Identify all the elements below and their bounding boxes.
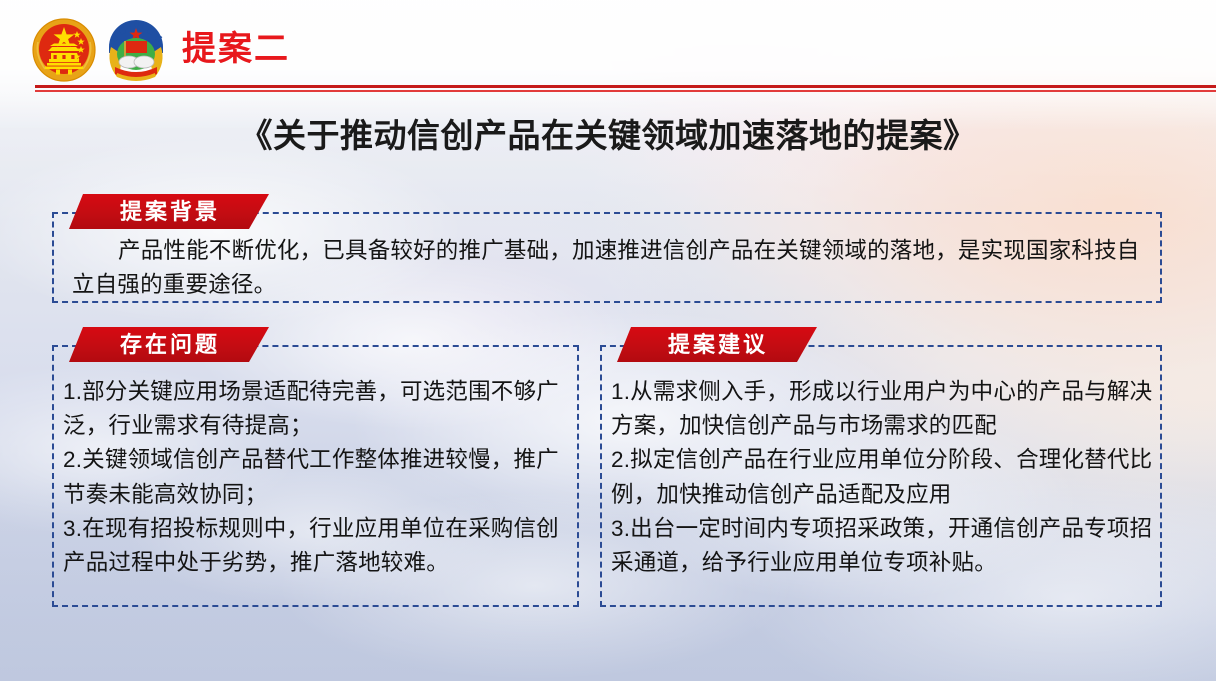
header-divider-thick <box>35 85 1216 88</box>
proposals-section-banner: 提案建议 <box>617 327 817 362</box>
slide-header: 1949 提案二 <box>0 0 1216 96</box>
problems-section-banner: 存在问题 <box>69 327 269 362</box>
presentation-slide: 1949 提案二 《关于推动信创产品在关键领域加速落地的提案》 <box>0 0 1216 681</box>
background-section-text: 产品性能不断优化，已具备较好的推广基础，加速推进信创产品在关键领域的落地，是实现… <box>72 234 1148 302</box>
proposals-banner-label: 提案建议 <box>666 334 768 356</box>
proposals-section-text: 1.从需求侧入手，形成以行业用户为中心的产品与解决方案，加快信创产品与市场需求的… <box>611 375 1155 580</box>
page-title: 提案二 <box>182 32 290 66</box>
background-section-banner: 提案背景 <box>69 194 269 229</box>
cppcc-emblem-icon: 1949 <box>103 17 169 85</box>
problems-section-text: 1.部分关键应用场景适配待完善，可选范围不够广泛，行业需求有待提高； 2.关键领… <box>63 375 573 580</box>
national-emblem-icon <box>31 17 97 83</box>
background-banner-label: 提案背景 <box>118 201 220 223</box>
proposal-title: 《关于推动信创产品在关键领域加速落地的提案》 <box>0 115 1216 156</box>
header-divider-thin <box>35 90 1216 92</box>
problems-banner-label: 存在问题 <box>118 334 220 356</box>
